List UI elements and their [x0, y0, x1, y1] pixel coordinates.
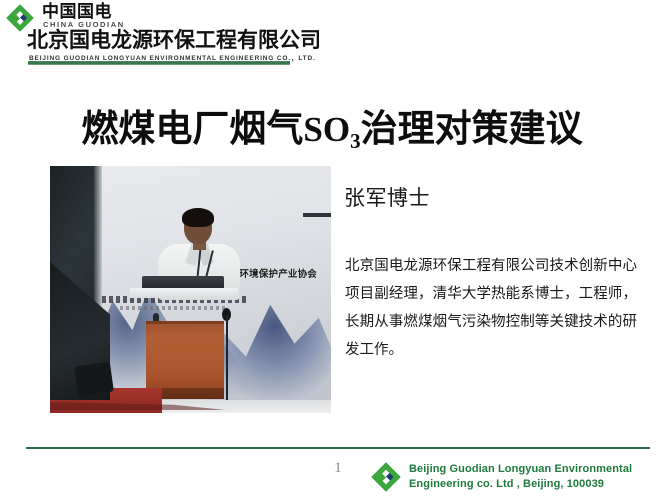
speaker-photo: 中国环境保护产业协会 [50, 166, 331, 413]
photo-wall-marker [303, 213, 331, 217]
photo-podium-desk [130, 288, 238, 298]
title-formula-subscript: 3 [350, 129, 361, 153]
page-title: 燃煤电厂烟气SO3治理对策建议 [0, 107, 664, 156]
footer-company-text: Beijing Guodian Longyuan Environmental E… [409, 462, 632, 492]
header-divider [28, 61, 290, 65]
footer-guodian-diamond-logo-icon [368, 461, 404, 493]
brand-name-en: CHINA GUODIAN [43, 20, 125, 29]
photo-banner-strip-2 [120, 306, 228, 310]
photo-microphone-stand-floor [226, 316, 228, 400]
title-part-1: 燃煤电厂烟气 [81, 108, 303, 149]
photo-speaker-hair [182, 208, 214, 227]
company-name-cn: 北京国电龙源环保工程有限公司 [27, 30, 321, 52]
page-number: 1 [330, 460, 346, 477]
photo-foreground-chair [74, 362, 114, 397]
title-part-2: 治理对策建议 [361, 108, 583, 149]
footer-company-line-1: Beijing Guodian Longyuan Environmental [409, 463, 632, 475]
footer-divider [26, 447, 650, 449]
title-formula-so: SO [303, 110, 350, 149]
slide-canvas: 中国国电 CHINA GUODIAN 北京国电龙源环保工程有限公司 BEIJIN… [0, 0, 664, 502]
photo-podium-edge [146, 321, 224, 324]
slide-header: 中国国电 CHINA GUODIAN 北京国电龙源环保工程有限公司 BEIJIN… [0, 0, 664, 70]
footer-company-line-2: Engineering co. Ltd , Beijing, 100039 [409, 477, 632, 492]
speaker-bio: 北京国电龙源环保工程有限公司技术创新中心项目副经理，清华大学热能系博士，工程师，… [345, 252, 637, 364]
brand-name-cn: 中国国电 [42, 2, 112, 21]
speaker-name: 张军博士 [344, 182, 430, 212]
